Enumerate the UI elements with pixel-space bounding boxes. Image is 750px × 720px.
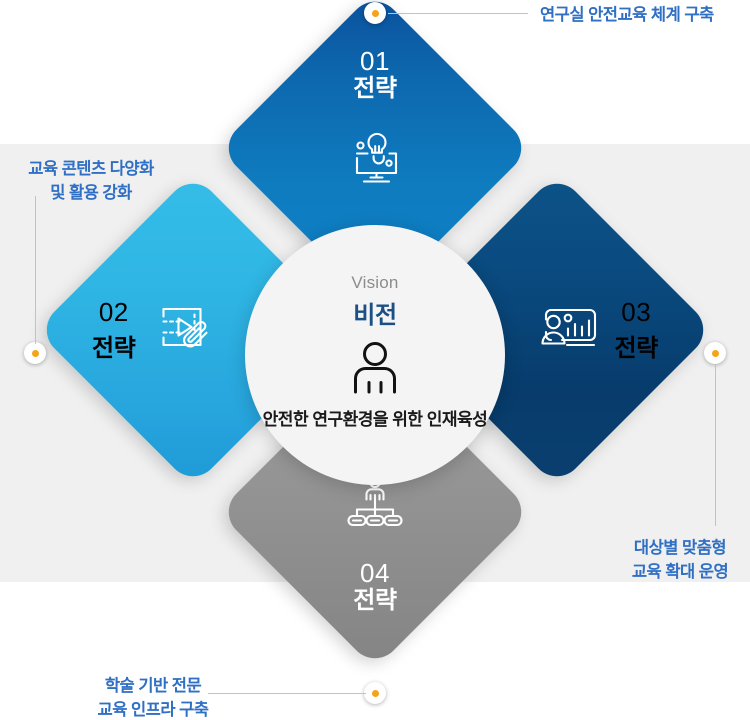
vision-label-en: Vision (351, 273, 398, 293)
connector-dot-03[interactable] (704, 342, 726, 364)
vision-statement: 안전한 연구환경을 위한 인재육성 (263, 409, 488, 431)
connector-line-03 (715, 364, 716, 526)
connector-line-01 (388, 13, 528, 14)
vision-circle[interactable]: Vision 비전 안전한 연구환경을 위한 인재육성 (245, 225, 505, 485)
strategy-caption-03: 대상별 맞춤형 교육 확대 운영 (620, 537, 740, 585)
strategy-caption-04: 학술 기반 전문 교육 인프라 구축 (82, 675, 224, 720)
connector-line-02 (35, 196, 36, 344)
person-icon (349, 340, 401, 403)
connector-dot-02[interactable] (24, 342, 46, 364)
strategy-caption-01: 연구실 안전교육 체계 구축 (540, 4, 714, 28)
infographic-canvas: 01 전략 (0, 0, 750, 720)
connector-dot-04[interactable] (364, 682, 386, 704)
strategy-caption-02: 교육 콘텐츠 다양화 및 활용 강화 (16, 158, 166, 206)
connector-line-04 (208, 693, 366, 694)
connector-dot-01[interactable] (364, 2, 386, 24)
vision-label-ko: 비전 (353, 295, 397, 330)
